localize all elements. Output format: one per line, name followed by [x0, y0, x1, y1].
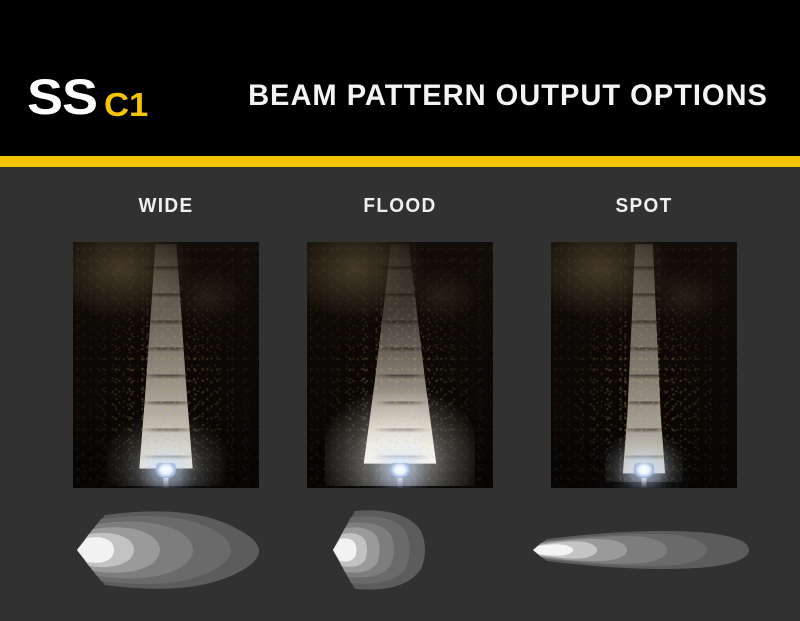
- photo-light-mount-flood: [398, 478, 403, 488]
- page-title: BEAM PATTERN OUTPUT OPTIONS: [248, 79, 768, 113]
- logo-text-primary: SS: [27, 72, 97, 122]
- beam-photo-flood: [307, 242, 493, 488]
- spot-beam-svg: [525, 501, 775, 597]
- beam-photo-spot: [551, 242, 737, 488]
- flood-beam-layers: [333, 510, 425, 589]
- column-label-flood: FLOOD: [312, 195, 489, 218]
- beam-photo-wide: [73, 242, 259, 488]
- column-label-row: WIDE FLOOD SPOT: [0, 195, 800, 223]
- beam-pattern-infographic: SS C1 BEAM PATTERN OUTPUT OPTIONS WIDE F…: [0, 0, 800, 621]
- flood-beam-svg: [289, 501, 539, 597]
- column-label-wide: WIDE: [78, 195, 255, 218]
- logo-text-secondary: C1: [104, 88, 148, 121]
- photo-light-source-wide: [156, 463, 176, 478]
- wide-beam-core: [77, 537, 114, 563]
- flood-beam-diagram: [289, 501, 539, 597]
- spot-beam-diagram: [525, 501, 775, 597]
- photo-light-mount-spot: [642, 478, 647, 488]
- flood-beam-core: [333, 539, 357, 562]
- wide-beam-layers: [77, 511, 259, 588]
- wide-beam-svg: [45, 501, 295, 597]
- photo-light-mount-wide: [164, 478, 169, 488]
- photo-light-source-flood: [390, 463, 410, 478]
- spot-beam-layers: [533, 531, 749, 569]
- accent-divider: [0, 156, 800, 167]
- content-area: WIDE FLOOD SPOT: [0, 167, 800, 621]
- photo-light-source-spot: [634, 463, 654, 478]
- wide-beam-diagram: [45, 501, 295, 597]
- header-bar: SS C1 BEAM PATTERN OUTPUT OPTIONS: [0, 0, 800, 156]
- brand-logo: SS C1: [27, 72, 146, 122]
- column-label-spot: SPOT: [556, 195, 733, 218]
- spot-beam-core: [533, 544, 573, 556]
